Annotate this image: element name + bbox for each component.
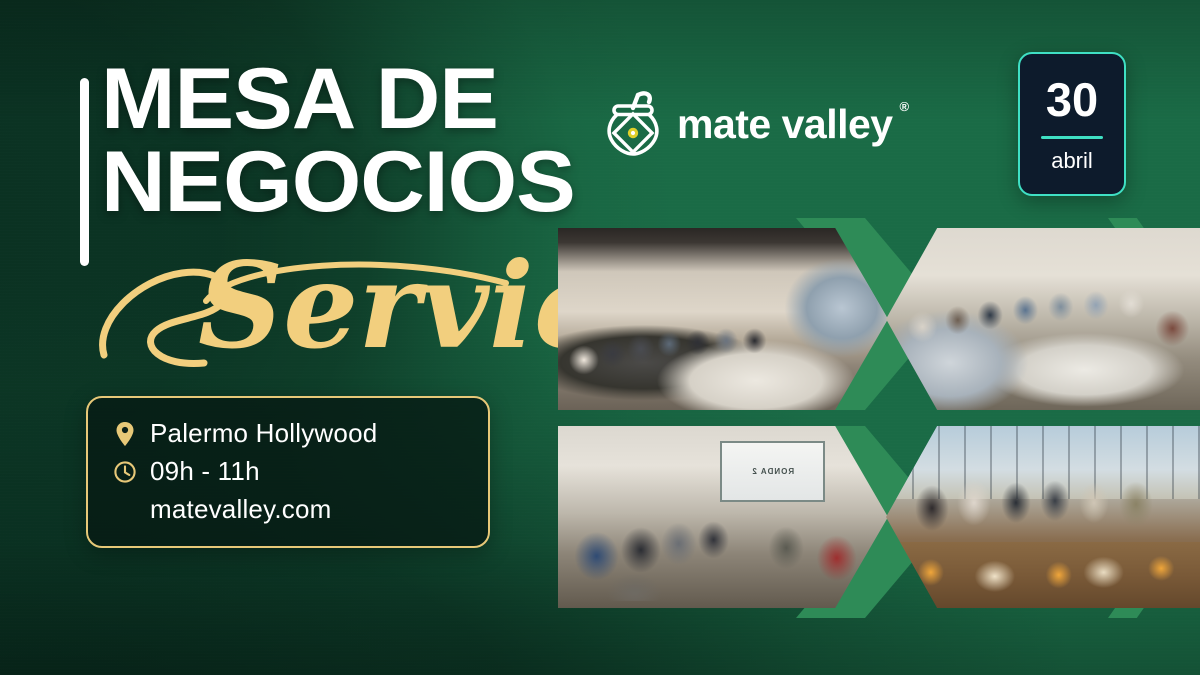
info-row-time: 09h - 11h (112, 456, 488, 487)
photo-presentation-projector: RONDA 2 (558, 426, 888, 608)
photo-networking-breakfast (886, 426, 1200, 608)
registered-trademark-icon: ® (900, 99, 909, 114)
headline-accent-bar (80, 78, 89, 266)
photo-collage: RONDA 2 (548, 218, 1200, 618)
headline-line-2: NEGOCIOS (101, 141, 590, 224)
event-info-box: Palermo Hollywood 09h - 11h matevalley.c… (86, 396, 490, 548)
info-row-website[interactable]: matevalley.com (112, 494, 488, 525)
projector-caption: RONDA 2 (722, 467, 824, 476)
photo3-people (565, 499, 882, 601)
location-text: Palermo Hollywood (150, 418, 377, 449)
projector-screen: RONDA 2 (720, 441, 826, 503)
date-day: 30 (1046, 76, 1098, 123)
map-pin-icon (112, 421, 138, 447)
poster-canvas: MESA DE NEGOCIOS Servicios Palermo Holly… (0, 0, 1200, 675)
photo4-people (896, 459, 1197, 550)
page-title: MESA DE NEGOCIOS (101, 58, 571, 223)
photo-meeting-long-table (886, 228, 1200, 410)
photo4-breakfast-table (886, 542, 1200, 608)
photo1-people (565, 312, 803, 392)
photo2-people (899, 272, 1193, 356)
mate-gourd-icon (602, 86, 664, 163)
photo-meeting-room-presenter (558, 228, 888, 410)
website-text[interactable]: matevalley.com (150, 494, 332, 525)
brand-name: mate valley® (677, 101, 893, 148)
date-month: abril (1051, 148, 1093, 174)
date-divider (1041, 136, 1103, 139)
brand-name-text: mate valley (677, 101, 893, 147)
clock-icon (112, 460, 138, 484)
time-text: 09h - 11h (150, 456, 260, 487)
date-badge: 30 abril (1018, 52, 1126, 196)
headline-line-1: MESA DE (101, 58, 590, 141)
brand-logo: mate valley® (602, 86, 893, 163)
info-row-location: Palermo Hollywood (112, 418, 488, 449)
